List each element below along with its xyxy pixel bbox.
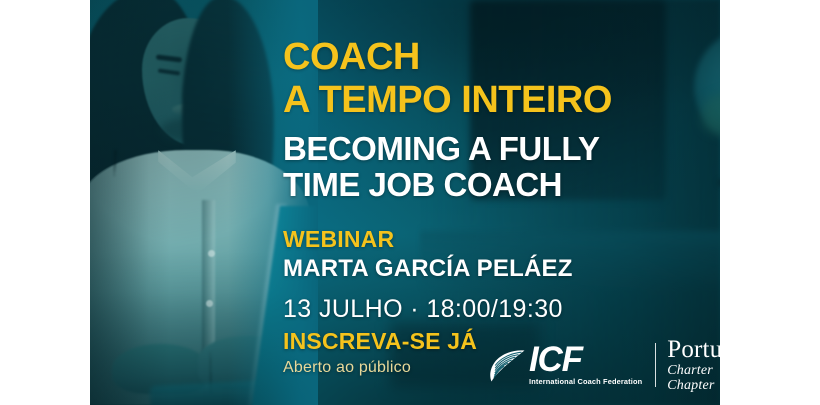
speaker-name: MARTA GARCÍA PELÁEZ: [283, 255, 720, 283]
icf-feather-icon: [487, 346, 527, 386]
icf-logo-left: ICF International Coach Federation: [487, 344, 642, 386]
headline-block: COACH A TEMPO INTEIRO BECOMING A FULLY T…: [283, 38, 720, 201]
subheadline-line-1: BECOMING A FULLY: [283, 132, 720, 165]
chapter-name: Portugal: [667, 337, 720, 362]
headline-line-2: A TEMPO INTEIRO: [283, 81, 720, 119]
chapter-lockup: Portugal Charter Chapter: [667, 337, 720, 394]
subheadline-line-2: TIME JOB COACH: [283, 168, 720, 201]
event-date-time: 13 JULHO · 18:00/19:30: [283, 295, 720, 324]
icf-wordmark-wrap: ICF International Coach Federation: [529, 344, 642, 386]
promotional-banner: COACH A TEMPO INTEIRO BECOMING A FULLY T…: [90, 0, 720, 405]
icf-acronym: ICF: [529, 344, 642, 376]
banner-canvas: COACH A TEMPO INTEIRO BECOMING A FULLY T…: [0, 0, 820, 405]
chapter-type: Charter Chapter: [667, 363, 720, 394]
icf-portugal-logo: ICF International Coach Federation Portu…: [487, 338, 720, 392]
logo-divider: [655, 343, 656, 387]
icf-tagline: International Coach Federation: [529, 377, 642, 386]
event-type-label: WEBINAR: [283, 226, 720, 253]
headline-line-1: COACH: [283, 38, 720, 76]
